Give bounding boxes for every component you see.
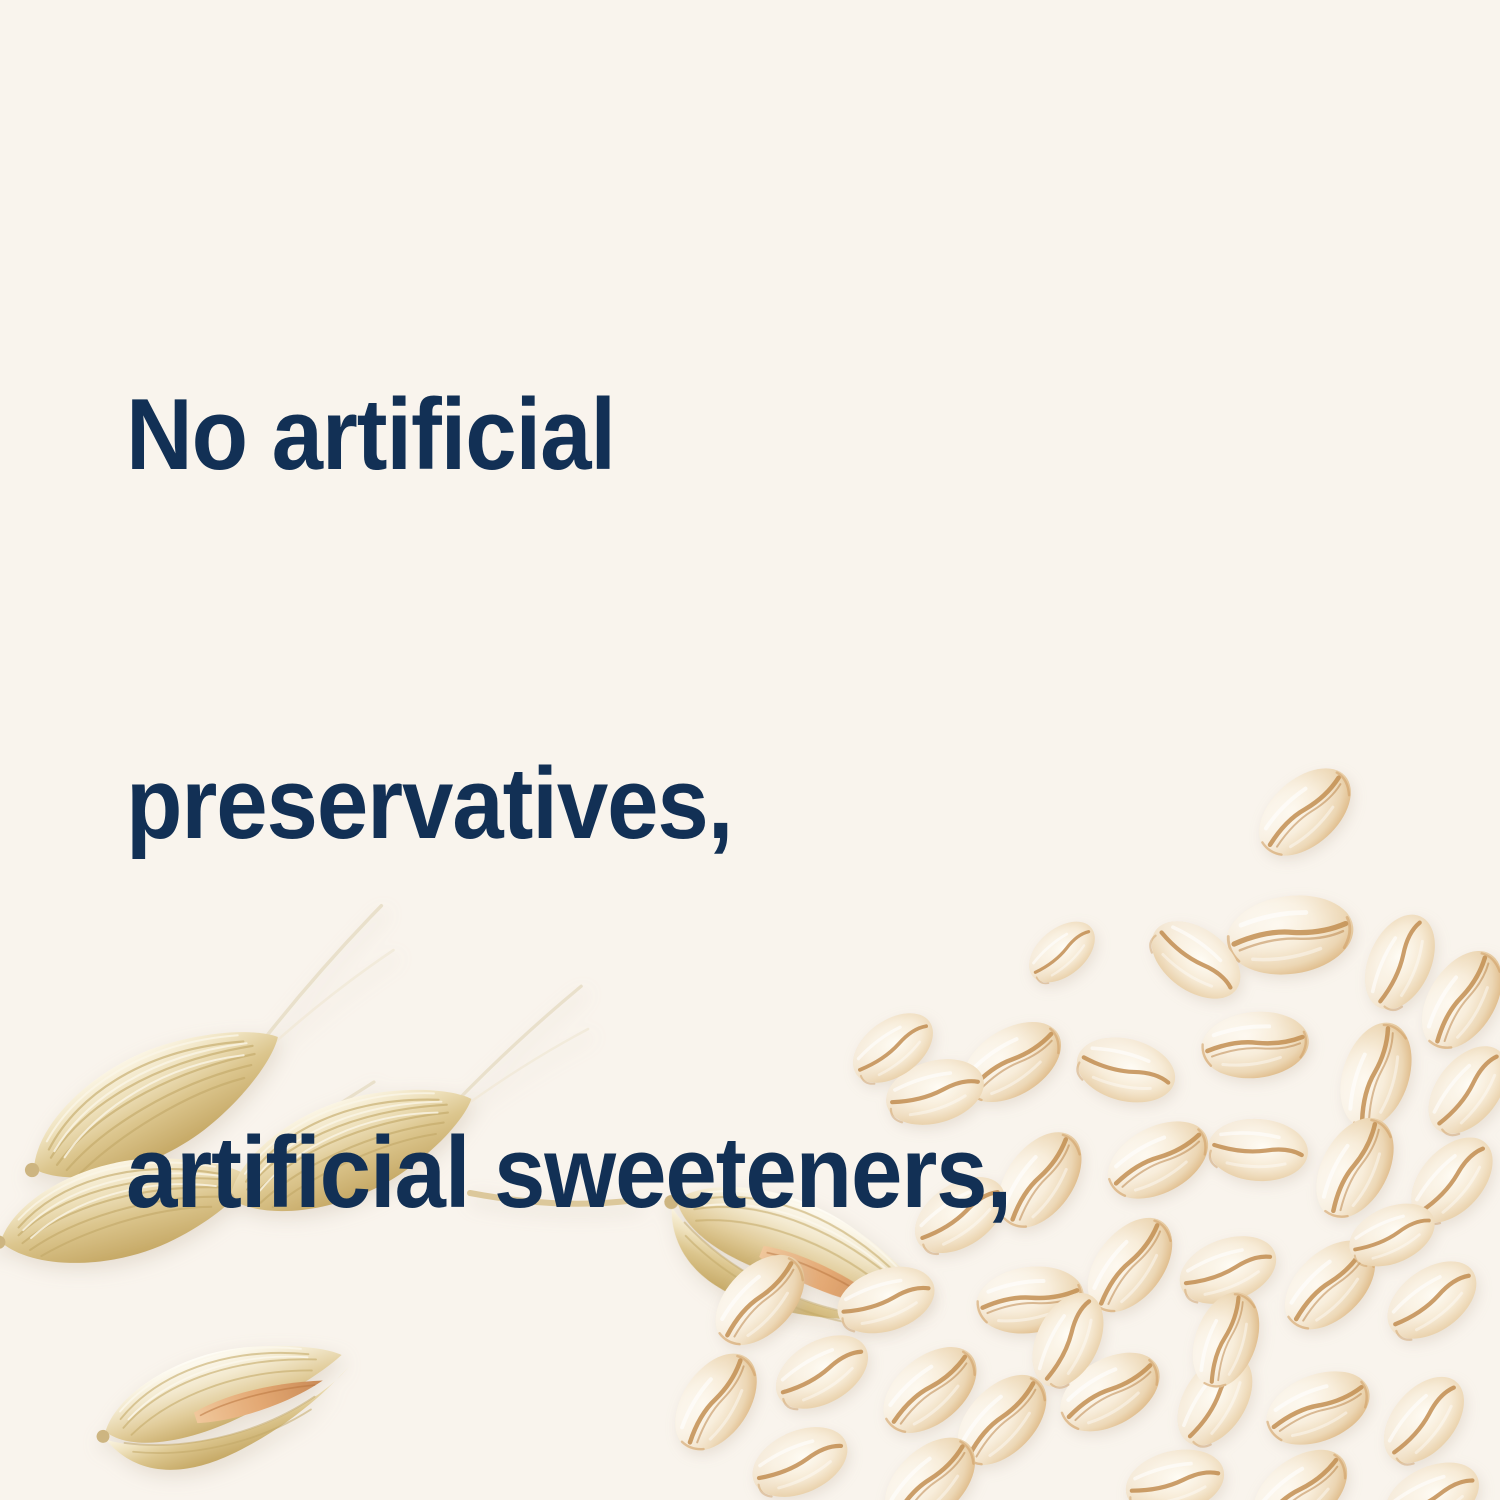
product-claim-banner: No artificial preservatives, artificial …: [0, 0, 1500, 1500]
headline-line-2: preservatives,: [126, 743, 1261, 866]
headline-line-3: artificial sweeteners,: [126, 1112, 1261, 1235]
headline-line-4: artificial flavors, or: [126, 1481, 1261, 1500]
headline: No artificial preservatives, artificial …: [126, 128, 1261, 1500]
headline-line-1: No artificial: [126, 374, 1261, 497]
